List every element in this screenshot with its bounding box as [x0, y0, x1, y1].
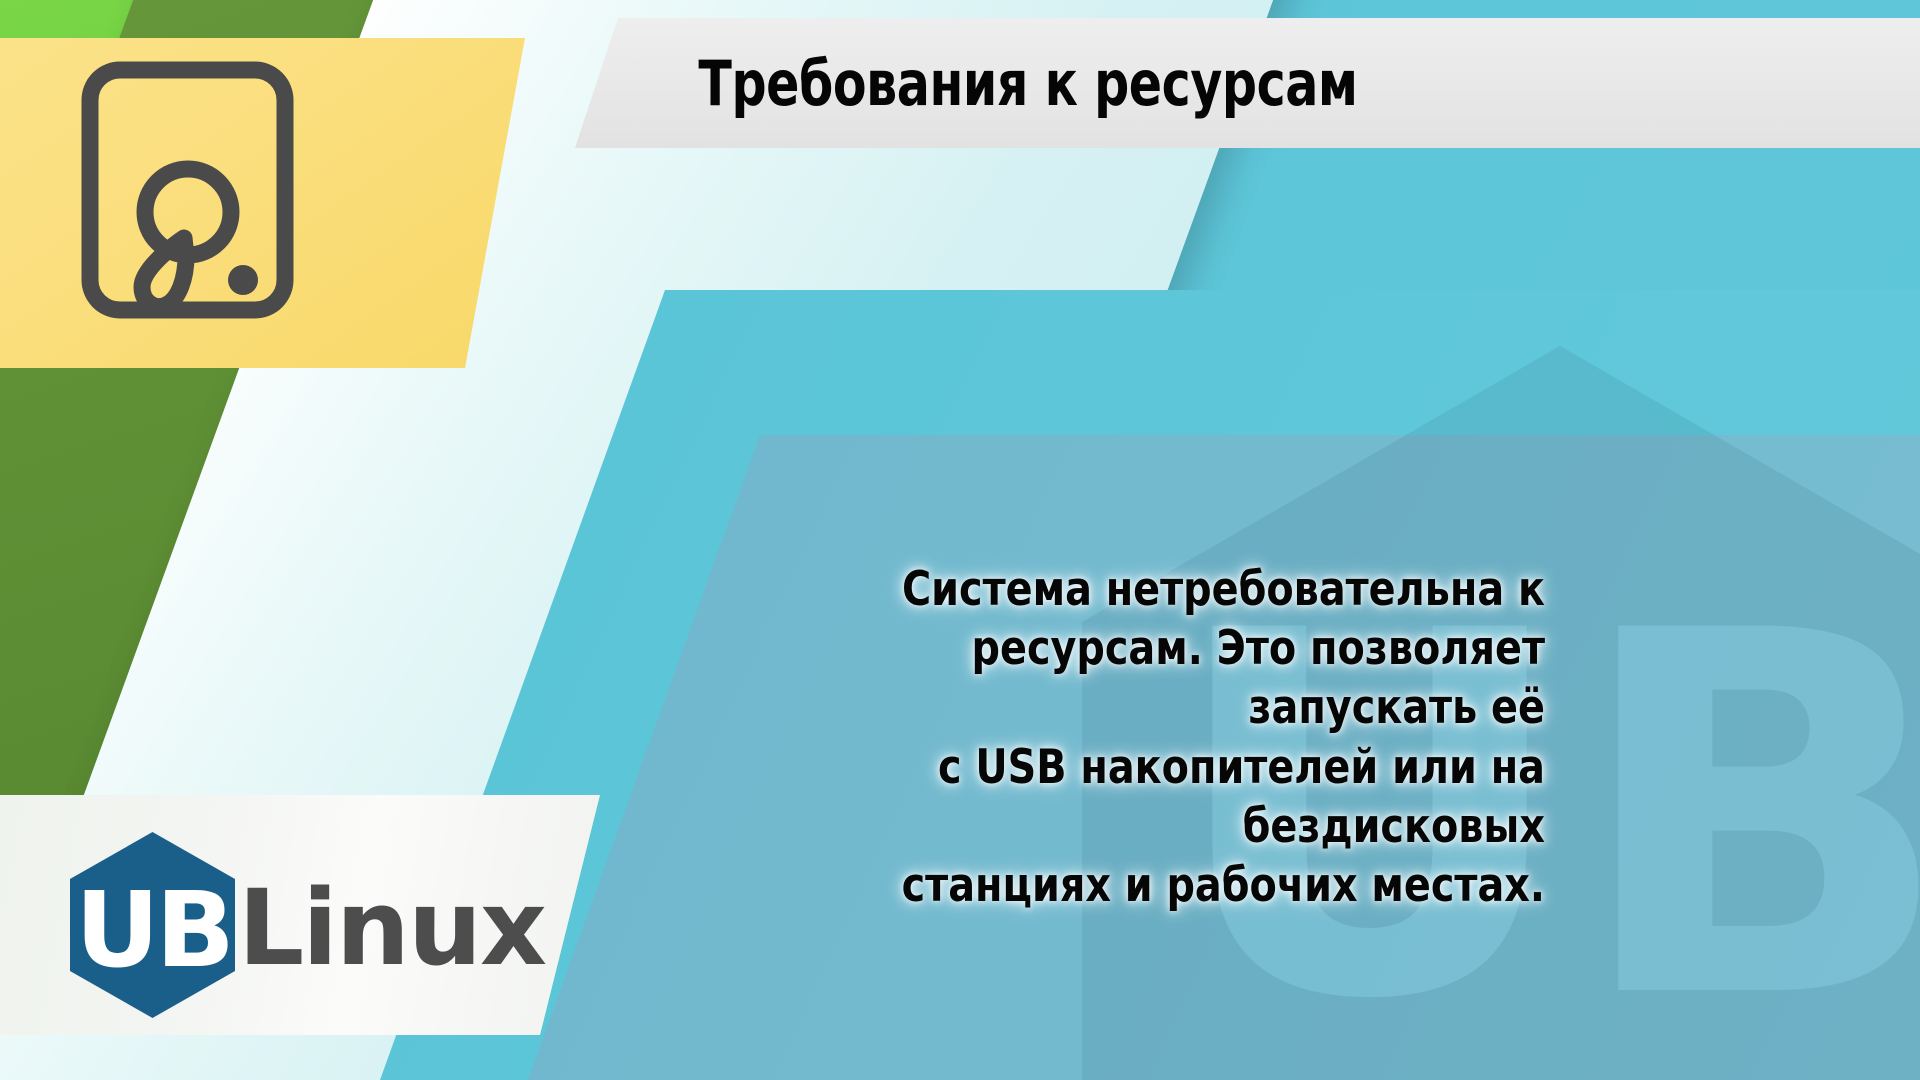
- body-line: ресурсам. Это позволяет запускать её: [751, 619, 1545, 737]
- ub-hexagon-icon: UB: [65, 830, 240, 1020]
- body-line: станциях и рабочих местах.: [751, 856, 1545, 915]
- ub-linux-logo: UB Linux: [65, 830, 545, 1020]
- slide-body-text: Система нетребовательна к ресурсам. Это …: [751, 560, 1545, 915]
- body-line: с USB накопителей или на бездисковых: [751, 738, 1545, 856]
- logo-wordmark: Linux: [238, 876, 545, 980]
- hard-drive-icon: [80, 60, 295, 320]
- slide-canvas: UB Требования к ресурсам Система нетребо…: [0, 0, 1920, 1080]
- ub-mark-text: UB: [75, 869, 231, 991]
- body-line: Система нетребовательна к: [751, 560, 1545, 619]
